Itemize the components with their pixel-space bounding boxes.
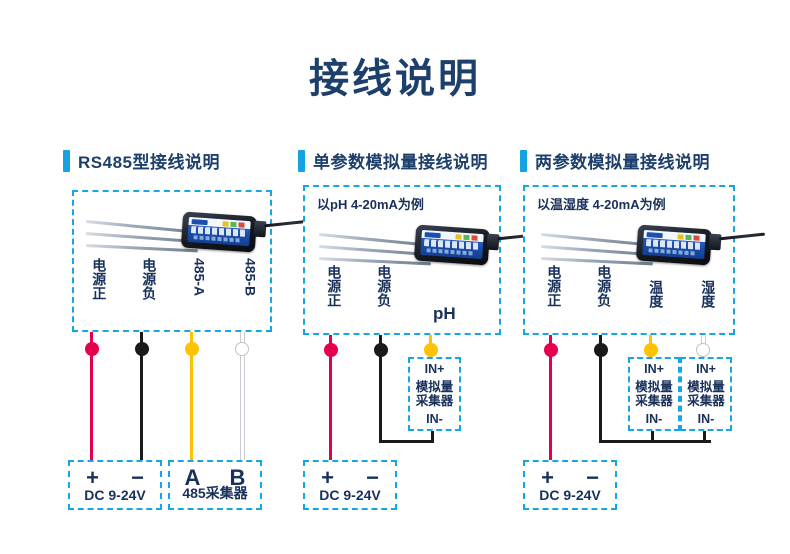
device-diagram-box: 电源正 电源负 485-A 485-B xyxy=(72,190,272,332)
wire-node-yellow xyxy=(424,343,438,357)
terminal-label: pH xyxy=(433,305,456,322)
sensor-label xyxy=(420,230,484,259)
wire-node-white xyxy=(235,342,249,356)
sensor-connector-icon xyxy=(486,234,499,251)
device-diagram-box: 以pH 4-20mA为例 电源正 电源负 pH xyxy=(303,185,501,335)
example-note: 以温湿度 4-20mA为例 xyxy=(537,194,666,213)
power-supply-terminals: + − xyxy=(525,467,615,489)
brand-logo-icon xyxy=(425,232,441,238)
wire-node-black xyxy=(374,343,388,357)
power-supply-box: + − DC 9-24V xyxy=(523,460,617,510)
collector-name: 模拟量采集器 xyxy=(630,380,678,408)
sensor-probe-icon xyxy=(319,233,431,247)
panel-heading-label: 两参数模拟量接线说明 xyxy=(535,148,710,173)
accent-bar-icon xyxy=(520,150,527,172)
terminal-label: 电源正 xyxy=(92,258,106,300)
power-supply-caption: DC 9-24V xyxy=(305,487,395,503)
terminal-plus: + xyxy=(86,467,99,489)
wire-return-vertical-2 xyxy=(703,430,706,442)
terminal-label: 电源负 xyxy=(142,258,156,300)
panel-heading-label: 单参数模拟量接线说明 xyxy=(313,148,488,173)
accent-bar-icon xyxy=(298,150,305,172)
wire-node-white xyxy=(696,343,710,357)
power-supply-terminals: + − xyxy=(305,467,395,489)
sensor-body xyxy=(414,224,490,265)
sensor-probe-icon xyxy=(86,244,198,252)
terminal-minus: − xyxy=(131,467,144,489)
analog-collector-box: IN+ 模拟量采集器 IN- xyxy=(408,357,461,431)
sensor-probe-icon xyxy=(541,233,653,247)
collector-in-minus: IN- xyxy=(426,412,443,426)
analog-collector-box-humidity: IN+ 模拟量采集器 IN- xyxy=(680,357,732,431)
example-note: 以pH 4-20mA为例 xyxy=(317,194,424,213)
panel-heading-rs485: RS485型接线说明 xyxy=(63,148,220,173)
wire-node-yellow xyxy=(185,342,199,356)
terminal-label: 电源负 xyxy=(597,265,611,307)
wire-node-yellow xyxy=(644,343,658,357)
wire-return-horizontal xyxy=(599,440,711,443)
wiring-panel-dual-analog: 两参数模拟量接线说明 以温湿度 4-20mA为例 电源正 电源 xyxy=(512,140,762,540)
terminal-plus: + xyxy=(321,467,334,489)
page-title: 接线说明 xyxy=(0,46,790,104)
wire-return-vertical xyxy=(431,430,434,442)
rs485-collector-box: A B 485采集器 xyxy=(168,460,262,510)
power-supply-box: + − DC 9-24V xyxy=(303,460,397,510)
wiring-panel-rs485: RS485型接线说明 电源正 电源负 485-A 485- xyxy=(55,140,305,540)
sensor-probe-icon xyxy=(86,220,198,234)
sensor-label xyxy=(642,230,706,259)
sensor-body xyxy=(636,224,712,265)
brand-logo-icon xyxy=(647,232,663,238)
sensor-label-line2 xyxy=(426,248,474,255)
power-supply-caption: DC 9-24V xyxy=(525,487,615,503)
collector-in-minus: IN- xyxy=(646,412,663,426)
collector-name: 模拟量采集器 xyxy=(410,380,459,408)
panel-heading-single-analog: 单参数模拟量接线说明 xyxy=(298,148,488,173)
analog-collector-box-temperature: IN+ 模拟量采集器 IN- xyxy=(628,357,680,431)
brand-logo-icon xyxy=(192,219,208,225)
sensor-connector-icon xyxy=(253,221,266,238)
collector-in-plus: IN+ xyxy=(425,362,445,376)
terminal-label: 电源正 xyxy=(327,265,341,307)
terminal-minus: − xyxy=(586,467,599,489)
collector-in-minus: IN- xyxy=(698,412,715,426)
terminal-label: 电源负 xyxy=(377,265,391,307)
sensor-label xyxy=(187,217,251,246)
sensor-cable-icon xyxy=(719,233,765,241)
led-indicator-icon xyxy=(222,221,248,228)
wire-return-horizontal xyxy=(379,440,434,443)
led-indicator-icon xyxy=(677,234,703,241)
terminal-label: 485-A xyxy=(192,258,206,296)
accent-bar-icon xyxy=(63,150,70,172)
collector-name: 模拟量采集器 xyxy=(682,380,730,408)
power-supply-caption: DC 9-24V xyxy=(70,487,160,503)
terminal-label: 湿度 xyxy=(701,280,715,308)
wire-node-red xyxy=(544,343,558,357)
sensor-body xyxy=(181,211,257,252)
device-diagram-box: 以温湿度 4-20mA为例 电源正 电源负 温度 湿度 xyxy=(523,185,735,335)
terminal-minus: − xyxy=(366,467,379,489)
wire-node-red xyxy=(85,342,99,356)
collector-in-plus: IN+ xyxy=(644,362,664,376)
sensor-label-line2 xyxy=(193,235,241,242)
sensor-label-line2 xyxy=(648,248,696,255)
wiring-panel-single-analog: 单参数模拟量接线说明 以pH 4-20mA为例 电源正 电源负 xyxy=(290,140,540,540)
terminal-label: 485-B xyxy=(243,258,257,296)
wire-node-black xyxy=(594,343,608,357)
wire-node-black xyxy=(135,342,149,356)
panel-heading-label: RS485型接线说明 xyxy=(78,148,220,173)
led-indicator-icon xyxy=(455,234,481,241)
terminal-label: 温度 xyxy=(649,280,663,308)
terminal-plus: + xyxy=(541,467,554,489)
rs485-collector-caption: 485采集器 xyxy=(170,483,260,503)
wire-node-red xyxy=(324,343,338,357)
power-supply-box: + − DC 9-24V xyxy=(68,460,162,510)
terminal-label: 电源正 xyxy=(547,265,561,307)
collector-in-plus: IN+ xyxy=(696,362,716,376)
panel-heading-dual-analog: 两参数模拟量接线说明 xyxy=(520,148,710,173)
power-supply-terminals: + − xyxy=(70,467,160,489)
wire-return-vertical-1 xyxy=(651,430,654,442)
sensor-connector-icon xyxy=(708,234,721,251)
